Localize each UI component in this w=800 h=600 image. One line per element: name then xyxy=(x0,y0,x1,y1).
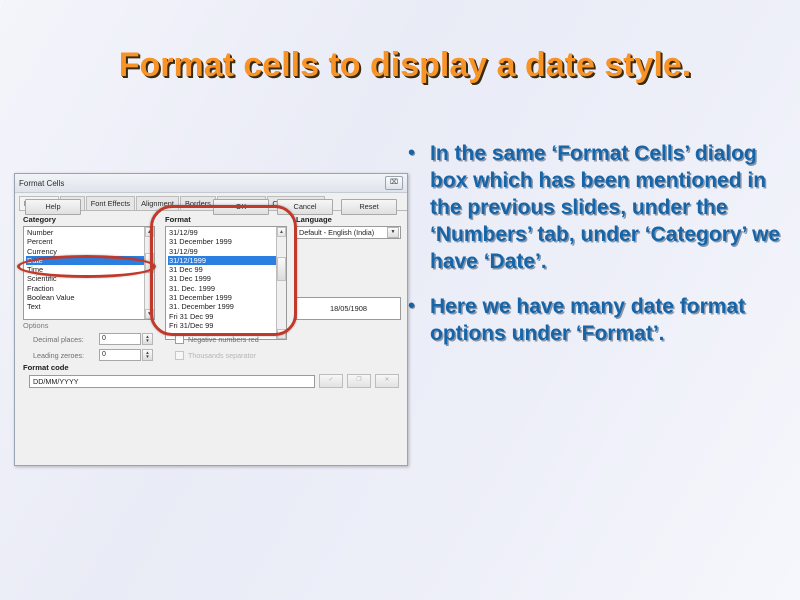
list-item[interactable]: Fri 31 Dec 99 xyxy=(168,312,286,321)
decimal-places-stepper[interactable]: ▲▼ xyxy=(142,333,153,345)
list-item[interactable]: 31/12/99 xyxy=(168,228,286,237)
format-preview: 18/05/1908 xyxy=(296,297,401,320)
list-item[interactable]: Boolean Value xyxy=(26,293,154,302)
preview-value: 18/05/1908 xyxy=(330,304,367,313)
list-item: • In the same ‘Format Cells’ dialog box … xyxy=(408,140,788,275)
leading-zeroes-row: Leading zeroes: 0 ▲▼ Thousands separator xyxy=(23,349,399,361)
category-listbox[interactable]: Number Percent Currency Date Time Scient… xyxy=(23,226,155,320)
thousands-separator-checkbox-row[interactable]: Thousands separator xyxy=(175,351,256,360)
list-item[interactable]: 31. Dec. 1999 xyxy=(168,284,286,293)
language-value: Default - English (India) xyxy=(297,228,387,237)
bullet-dot-icon: • xyxy=(408,140,430,167)
category-section: Category Number Percent Currency Date Ti… xyxy=(23,215,155,320)
list-item[interactable]: Scientific xyxy=(26,274,154,283)
negative-red-label: Negative numbers red xyxy=(188,335,259,344)
help-button[interactable]: Help xyxy=(25,199,81,215)
list-item[interactable]: 31 Dec 99 xyxy=(168,265,286,274)
list-item-selected[interactable]: Date xyxy=(26,256,154,265)
format-code-input[interactable]: DD/MM/YYYY xyxy=(29,375,315,388)
format-code-row: DD/MM/YYYY ✓ ❐ ✕ xyxy=(23,374,399,388)
category-label: Category xyxy=(23,215,155,224)
list-item[interactable]: Currency xyxy=(26,247,154,256)
list-item[interactable]: Fraction xyxy=(26,284,154,293)
dialog-title: Format Cells xyxy=(19,179,385,188)
cancel-button[interactable]: Cancel xyxy=(277,199,333,215)
dialog-titlebar[interactable]: Format Cells ⌧ xyxy=(15,174,407,193)
reset-button[interactable]: Reset xyxy=(341,199,397,215)
list-item[interactable]: Number xyxy=(26,228,154,237)
negative-red-checkbox-row[interactable]: Negative numbers red xyxy=(175,335,259,344)
format-code-section: Format code DD/MM/YYYY ✓ ❐ ✕ xyxy=(23,363,399,388)
format-cells-dialog: Format Cells ⌧ Numbers Font Font Effects… xyxy=(14,173,408,466)
apply-format-icon[interactable]: ✓ xyxy=(319,374,343,388)
bullet-text: Here we have many date format options un… xyxy=(430,293,788,347)
checkbox-icon[interactable] xyxy=(175,351,184,360)
checkbox-icon[interactable] xyxy=(175,335,184,344)
options-header: Options xyxy=(23,321,399,330)
list-item[interactable]: 31/12/99 xyxy=(168,247,286,256)
list-item: • Here we have many date format options … xyxy=(408,293,788,347)
close-icon[interactable]: ⌧ xyxy=(385,176,403,190)
dialog-body: Category Number Percent Currency Date Ti… xyxy=(15,211,407,221)
category-scrollbar[interactable]: ▲ ▼ xyxy=(144,227,154,319)
list-item-selected[interactable]: 31/12/1999 xyxy=(168,256,286,265)
scrollbar-thumb[interactable] xyxy=(145,253,154,273)
list-item[interactable]: Time xyxy=(26,265,154,274)
dialog-footer: Help OK Cancel Reset xyxy=(15,199,407,215)
language-section: Language Default - English (India) ▼ xyxy=(296,215,401,239)
decimal-places-label: Decimal places: xyxy=(23,335,99,344)
format-code-label: Format code xyxy=(23,363,399,372)
scrollbar-thumb[interactable] xyxy=(277,257,286,281)
scroll-up-icon[interactable]: ▲ xyxy=(145,227,154,237)
list-item[interactable]: 31. December 1999 xyxy=(168,302,286,311)
list-item[interactable]: Percent xyxy=(26,237,154,246)
leading-zeroes-stepper[interactable]: ▲▼ xyxy=(142,349,153,361)
delete-format-icon[interactable]: ✕ xyxy=(375,374,399,388)
language-select[interactable]: Default - English (India) ▼ xyxy=(296,226,401,239)
language-label: Language xyxy=(296,215,401,224)
chevron-down-icon[interactable]: ▼ xyxy=(387,227,399,238)
page-title: Format cells to display a date style. xyxy=(40,46,770,85)
thousands-separator-label: Thousands separator xyxy=(188,351,256,360)
list-item[interactable]: 31 December 1999 xyxy=(168,293,286,302)
decimal-places-row: Decimal places: 0 ▲▼ Negative numbers re… xyxy=(23,333,399,345)
leading-zeroes-label: Leading zeroes: xyxy=(23,351,99,360)
options-section: Options Decimal places: 0 ▲▼ Negative nu… xyxy=(23,321,399,365)
bullet-list: • In the same ‘Format Cells’ dialog box … xyxy=(408,140,788,365)
scroll-up-icon[interactable]: ▲ xyxy=(277,227,286,237)
scroll-down-icon[interactable]: ▼ xyxy=(145,309,154,319)
format-label: Format xyxy=(165,215,287,224)
bullet-dot-icon: • xyxy=(408,293,430,320)
ok-button[interactable]: OK xyxy=(213,199,269,215)
bullet-text: In the same ‘Format Cells’ dialog box wh… xyxy=(430,140,788,275)
decimal-places-input[interactable]: 0 xyxy=(99,333,141,345)
list-item[interactable]: Text xyxy=(26,302,154,311)
format-items: 31/12/99 31 December 1999 31/12/99 31/12… xyxy=(166,227,286,330)
category-items: Number Percent Currency Date Time Scient… xyxy=(24,227,154,312)
leading-zeroes-input[interactable]: 0 xyxy=(99,349,141,361)
list-item[interactable]: 31 Dec 1999 xyxy=(168,274,286,283)
list-item[interactable]: 31 December 1999 xyxy=(168,237,286,246)
add-format-icon[interactable]: ❐ xyxy=(347,374,371,388)
